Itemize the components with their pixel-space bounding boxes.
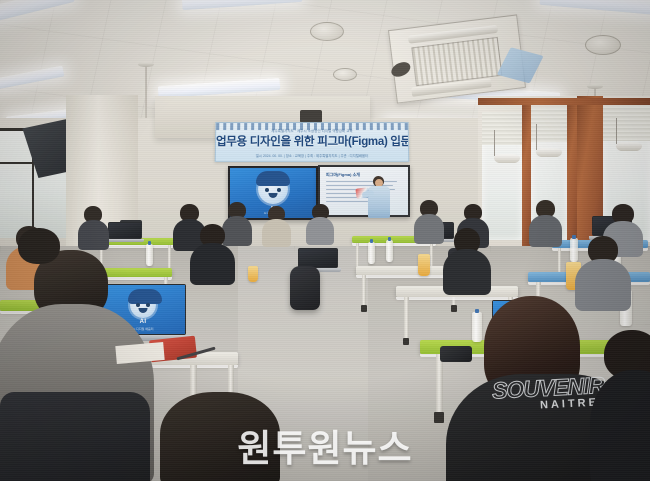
ceiling-hanger-disc (138, 62, 154, 67)
ceiling-hanger-rod (145, 64, 147, 122)
desk-leg (430, 243, 433, 267)
beverage-cup (418, 254, 430, 276)
water-bottle (386, 240, 393, 262)
water-bottle (570, 238, 578, 262)
banner-subline: 일시 2024. 00. 00. | 장소 : 교육장 | 주최 : 제주특별자… (216, 153, 409, 158)
desk-foot (361, 305, 367, 312)
right-window (482, 112, 522, 240)
window-blind (482, 112, 522, 145)
slide-text-line (326, 201, 368, 202)
beverage-cup (248, 266, 258, 282)
desk-leg (436, 354, 443, 416)
desk-leg (404, 297, 409, 341)
desk-foot (403, 338, 409, 345)
smartphone (440, 346, 472, 362)
projector-mount (300, 110, 322, 123)
smoke-detector-icon (310, 22, 344, 41)
chair-back (0, 392, 150, 481)
backpack (290, 266, 320, 310)
water-bottle (472, 312, 482, 342)
desk-leg (168, 245, 171, 269)
banner-title: 업무용 디자인을 위한 피그마(Figma) 입문 (216, 133, 408, 149)
water-bottle (368, 242, 375, 264)
wood-pillar (567, 100, 577, 256)
laptop (108, 222, 142, 242)
event-banner: 제주특별자치도 · 제주시 소상공인 디지털 역량강화 교육 업무용 디자인을 … (215, 122, 410, 162)
ai-mascot-icon (130, 292, 156, 318)
desk-leg (356, 243, 359, 267)
ai-mascot-icon (258, 174, 288, 204)
air-conditioner-unit (388, 14, 526, 103)
smoke-detector-icon (585, 35, 621, 55)
ceiling-hanger-disc (587, 84, 603, 89)
desk-foot (434, 412, 444, 423)
desk-leg (362, 275, 366, 307)
wood-beam (478, 98, 650, 105)
photograph-classroom-figma-lecture: 제주특별자치도 · 제주시 소상공인 디지털 역량강화 교육 업무용 디자인을 … (0, 0, 650, 481)
desk-leg (558, 248, 561, 274)
smoke-detector-icon (333, 68, 357, 81)
desk-foot (451, 305, 457, 312)
ac-sensor (390, 59, 414, 79)
water-bottle (146, 244, 153, 266)
window-blind (603, 106, 650, 141)
presenter (366, 176, 392, 222)
ai-label: AI (140, 319, 147, 325)
